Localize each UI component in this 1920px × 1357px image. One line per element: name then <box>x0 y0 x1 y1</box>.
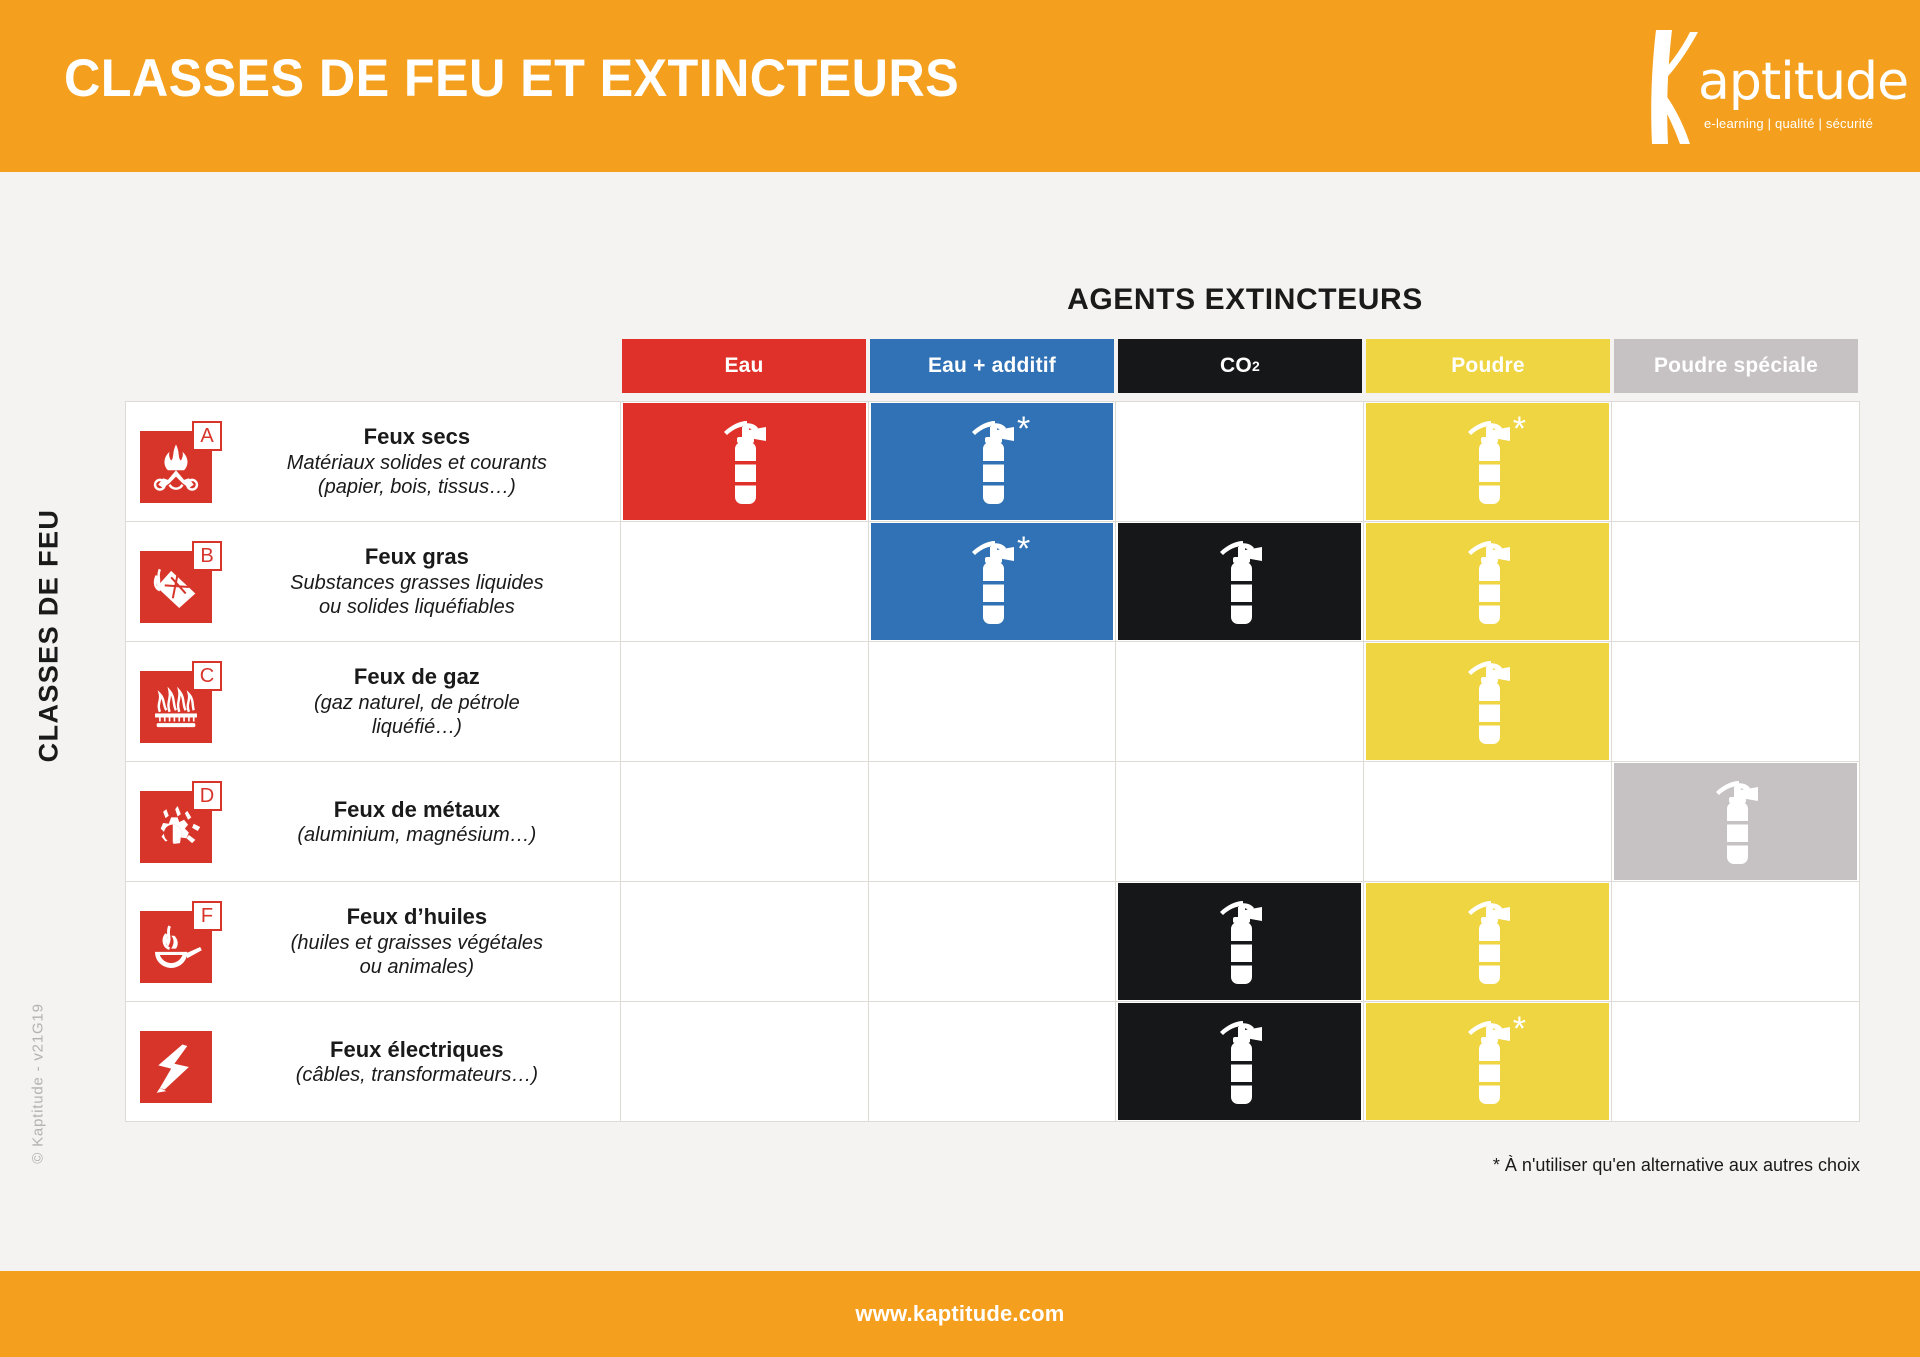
matrix-cell[interactable]: * <box>869 522 1117 641</box>
fire-class-letter-badge: D <box>192 781 222 811</box>
matrix-cell[interactable] <box>869 642 1117 761</box>
column-header-1[interactable]: Eau <box>620 337 868 395</box>
matrix-cell[interactable] <box>1364 642 1612 761</box>
fire-extinguisher-icon <box>1457 536 1519 628</box>
matrix-cell[interactable] <box>1612 522 1860 641</box>
fire-extinguisher-icon <box>1457 656 1519 748</box>
matrix-cell[interactable] <box>1612 642 1860 761</box>
fire-extinguisher-icon: * <box>1457 1016 1519 1108</box>
agent-recommended-fill: * <box>871 403 1114 520</box>
column-header-2[interactable]: Eau + additif <box>868 337 1116 395</box>
column-header-label: Poudre <box>1451 354 1525 378</box>
fire-class-letter-badge: A <box>192 421 222 451</box>
fire-class-title: Feux électriques <box>224 1036 610 1064</box>
fire-extinguisher-icon: * <box>961 536 1023 628</box>
matrix-cell[interactable] <box>869 1002 1117 1121</box>
footnote-text: * À n'utiliser qu'en alternative aux aut… <box>1493 1155 1860 1176</box>
page-header: CLASSES DE FEU ET EXTINCTEURS aptitude e… <box>0 0 1920 172</box>
matrix-row: AFeux secsMatériaux solides et courants(… <box>126 402 1860 522</box>
fire-class-text: Feux d’huiles(huiles et graisses végétal… <box>222 903 620 979</box>
matrix-cell[interactable] <box>869 882 1117 1001</box>
asterisk-footnote-marker: * <box>1017 532 1030 566</box>
fire-class-title: Feux de métaux <box>224 796 610 824</box>
fire-class-description: Matériaux solides et courants <box>224 451 610 475</box>
matrix-cell[interactable] <box>621 762 869 881</box>
fire-extinguisher-icon: * <box>961 416 1023 508</box>
fire-class-description: (gaz naturel, de pétrole <box>224 691 610 715</box>
classes-de-feu-axis-label: CLASSES DE FEU <box>34 376 65 896</box>
fire-class-title: Feux secs <box>224 423 610 451</box>
fire-class-pictogram: D <box>140 781 222 863</box>
column-header-label: Poudre spéciale <box>1654 354 1818 378</box>
agent-recommended-fill <box>1614 763 1857 880</box>
fire-class-pictogram: C <box>140 661 222 743</box>
matrix-cell[interactable]: * <box>1364 1002 1612 1121</box>
fire-class-description-line2: ou animales) <box>224 955 610 979</box>
fire-class-description-line2: ou solides liquéfiables <box>224 595 610 619</box>
kaptitude-logo: aptitude e-learning | qualité | sécurité <box>1642 26 1872 146</box>
matrix-row: CFeux de gaz(gaz naturel, de pétroleliqu… <box>126 642 1860 762</box>
fire-class-title: Feux gras <box>224 543 610 571</box>
fire-class-description: Substances grasses liquides <box>224 571 610 595</box>
lightning-bolt-icon <box>140 1031 212 1103</box>
agent-recommended-fill: * <box>1366 1003 1609 1120</box>
infographic-page: CLASSES DE FEU ET EXTINCTEURS aptitude e… <box>0 0 1920 1357</box>
asterisk-footnote-marker: * <box>1513 412 1526 446</box>
matrix-cell[interactable] <box>1612 762 1860 881</box>
matrix-cell[interactable] <box>1612 882 1860 1001</box>
matrix-cell[interactable] <box>1116 882 1364 1001</box>
asterisk-footnote-marker: * <box>1513 1012 1526 1046</box>
agent-recommended-fill: * <box>871 523 1114 640</box>
fire-class-row-label[interactable]: CFeux de gaz(gaz naturel, de pétroleliqu… <box>126 642 621 761</box>
fire-class-letter-badge: C <box>192 661 222 691</box>
fire-extinguisher-icon <box>1209 896 1271 988</box>
fire-extinguisher-icon <box>1209 536 1271 628</box>
matrix-row: FFeux d’huiles(huiles et graisses végéta… <box>126 882 1860 1002</box>
column-header-3[interactable]: CO2 <box>1116 337 1364 395</box>
column-header-label: Eau + additif <box>928 354 1056 378</box>
logo-wordmark: aptitude <box>1698 52 1908 112</box>
column-header-5[interactable]: Poudre spéciale <box>1612 337 1860 395</box>
fire-extinguisher-icon <box>1705 776 1767 868</box>
fire-extinguisher-icon <box>1209 1016 1271 1108</box>
matrix-body: AFeux secsMatériaux solides et courants(… <box>125 401 1860 1122</box>
agent-recommended-fill: * <box>1366 403 1609 520</box>
fire-class-text: Feux grasSubstances grasses liquidesou s… <box>222 543 620 619</box>
fire-class-title: Feux de gaz <box>224 663 610 691</box>
page-footer: www.kaptitude.com <box>0 1271 1920 1357</box>
agent-recommended-fill <box>1366 643 1609 760</box>
matrix-cell[interactable] <box>1364 522 1612 641</box>
fire-class-text: Feux de gaz(gaz naturel, de pétroleliqué… <box>222 663 620 739</box>
logo-tagline: e-learning | qualité | sécurité <box>1704 116 1873 131</box>
website-link[interactable]: www.kaptitude.com <box>855 1301 1064 1327</box>
matrix-row: BFeux grasSubstances grasses liquidesou … <box>126 522 1860 642</box>
agent-recommended-fill <box>1118 523 1361 640</box>
matrix-cell[interactable] <box>1116 522 1364 641</box>
column-header-label: CO <box>1220 354 1252 378</box>
column-header-subscript: 2 <box>1252 358 1260 374</box>
agent-recommended-fill <box>1118 883 1361 1000</box>
fire-class-title: Feux d’huiles <box>224 903 610 931</box>
matrix-cell[interactable] <box>621 522 869 641</box>
fire-class-text: Feux secsMatériaux solides et courants(p… <box>222 423 620 499</box>
fire-extinguisher-icon <box>713 416 775 508</box>
fire-class-text: Feux électriques(câbles, transformateurs… <box>222 1036 620 1088</box>
fire-class-pictogram <box>140 1021 222 1103</box>
logo-k-icon <box>1642 28 1704 146</box>
matrix-cell[interactable] <box>1116 402 1364 521</box>
agent-recommended-fill <box>1366 883 1609 1000</box>
matrix-cell[interactable] <box>1364 882 1612 1001</box>
agents-extincteurs-title: AGENTS EXTINCTEURS <box>625 283 1865 317</box>
matrix-cell[interactable] <box>1116 1002 1364 1121</box>
fire-class-letter-badge: B <box>192 541 222 571</box>
matrix-cell[interactable] <box>1364 762 1612 881</box>
matrix-header-row: EauEau + additifCO2PoudrePoudre spéciale <box>620 337 1860 395</box>
matrix-row: Feux électriques(câbles, transformateurs… <box>126 1002 1860 1122</box>
fire-extinguisher-icon: * <box>1457 416 1519 508</box>
matrix-cell[interactable] <box>621 642 869 761</box>
matrix-cell[interactable]: * <box>869 402 1117 521</box>
matrix-cell[interactable] <box>1612 1002 1860 1121</box>
page-title: CLASSES DE FEU ET EXTINCTEURS <box>64 48 959 109</box>
fire-class-pictogram: A <box>140 421 222 503</box>
matrix-cell[interactable] <box>621 1002 869 1121</box>
agent-recommended-fill <box>623 403 866 520</box>
matrix-cell[interactable]: * <box>1364 402 1612 521</box>
fire-class-row-label[interactable]: Feux électriques(câbles, transformateurs… <box>126 1002 621 1121</box>
fire-extinguisher-icon <box>1457 896 1519 988</box>
matrix-cell[interactable] <box>869 762 1117 881</box>
fire-class-letter-badge: F <box>192 901 222 931</box>
fire-class-row-label[interactable]: AFeux secsMatériaux solides et courants(… <box>126 402 621 521</box>
column-header-4[interactable]: Poudre <box>1364 337 1612 395</box>
matrix-cell[interactable] <box>1612 402 1860 521</box>
agent-recommended-fill <box>1366 523 1609 640</box>
matrix-row: DFeux de métaux(aluminium, magnésium…) <box>126 762 1860 882</box>
fire-class-pictogram: F <box>140 901 222 983</box>
fire-class-row-label[interactable]: DFeux de métaux(aluminium, magnésium…) <box>126 762 621 881</box>
fire-class-pictogram: B <box>140 541 222 623</box>
matrix-cell[interactable] <box>621 402 869 521</box>
fire-class-description: (aluminium, magnésium…) <box>224 823 610 847</box>
fire-class-description-line2: liquéfié…) <box>224 715 610 739</box>
matrix-cell[interactable] <box>1116 762 1364 881</box>
matrix-cell[interactable] <box>621 882 869 1001</box>
fire-class-row-label[interactable]: BFeux grasSubstances grasses liquidesou … <box>126 522 621 641</box>
matrix-cell[interactable] <box>1116 642 1364 761</box>
fire-class-description: (huiles et graisses végétales <box>224 931 610 955</box>
fire-class-description-line2: (papier, bois, tissus…) <box>224 475 610 499</box>
agent-recommended-fill <box>1118 1003 1361 1120</box>
fire-class-text: Feux de métaux(aluminium, magnésium…) <box>222 796 620 848</box>
copyright-label: © Kaptitude - v21G19 <box>30 984 47 1184</box>
asterisk-footnote-marker: * <box>1017 412 1030 446</box>
fire-class-row-label[interactable]: FFeux d’huiles(huiles et graisses végéta… <box>126 882 621 1001</box>
fire-class-description: (câbles, transformateurs…) <box>224 1063 610 1087</box>
column-header-label: Eau <box>724 354 763 378</box>
fire-class-matrix: EauEau + additifCO2PoudrePoudre spéciale… <box>125 337 1860 1122</box>
